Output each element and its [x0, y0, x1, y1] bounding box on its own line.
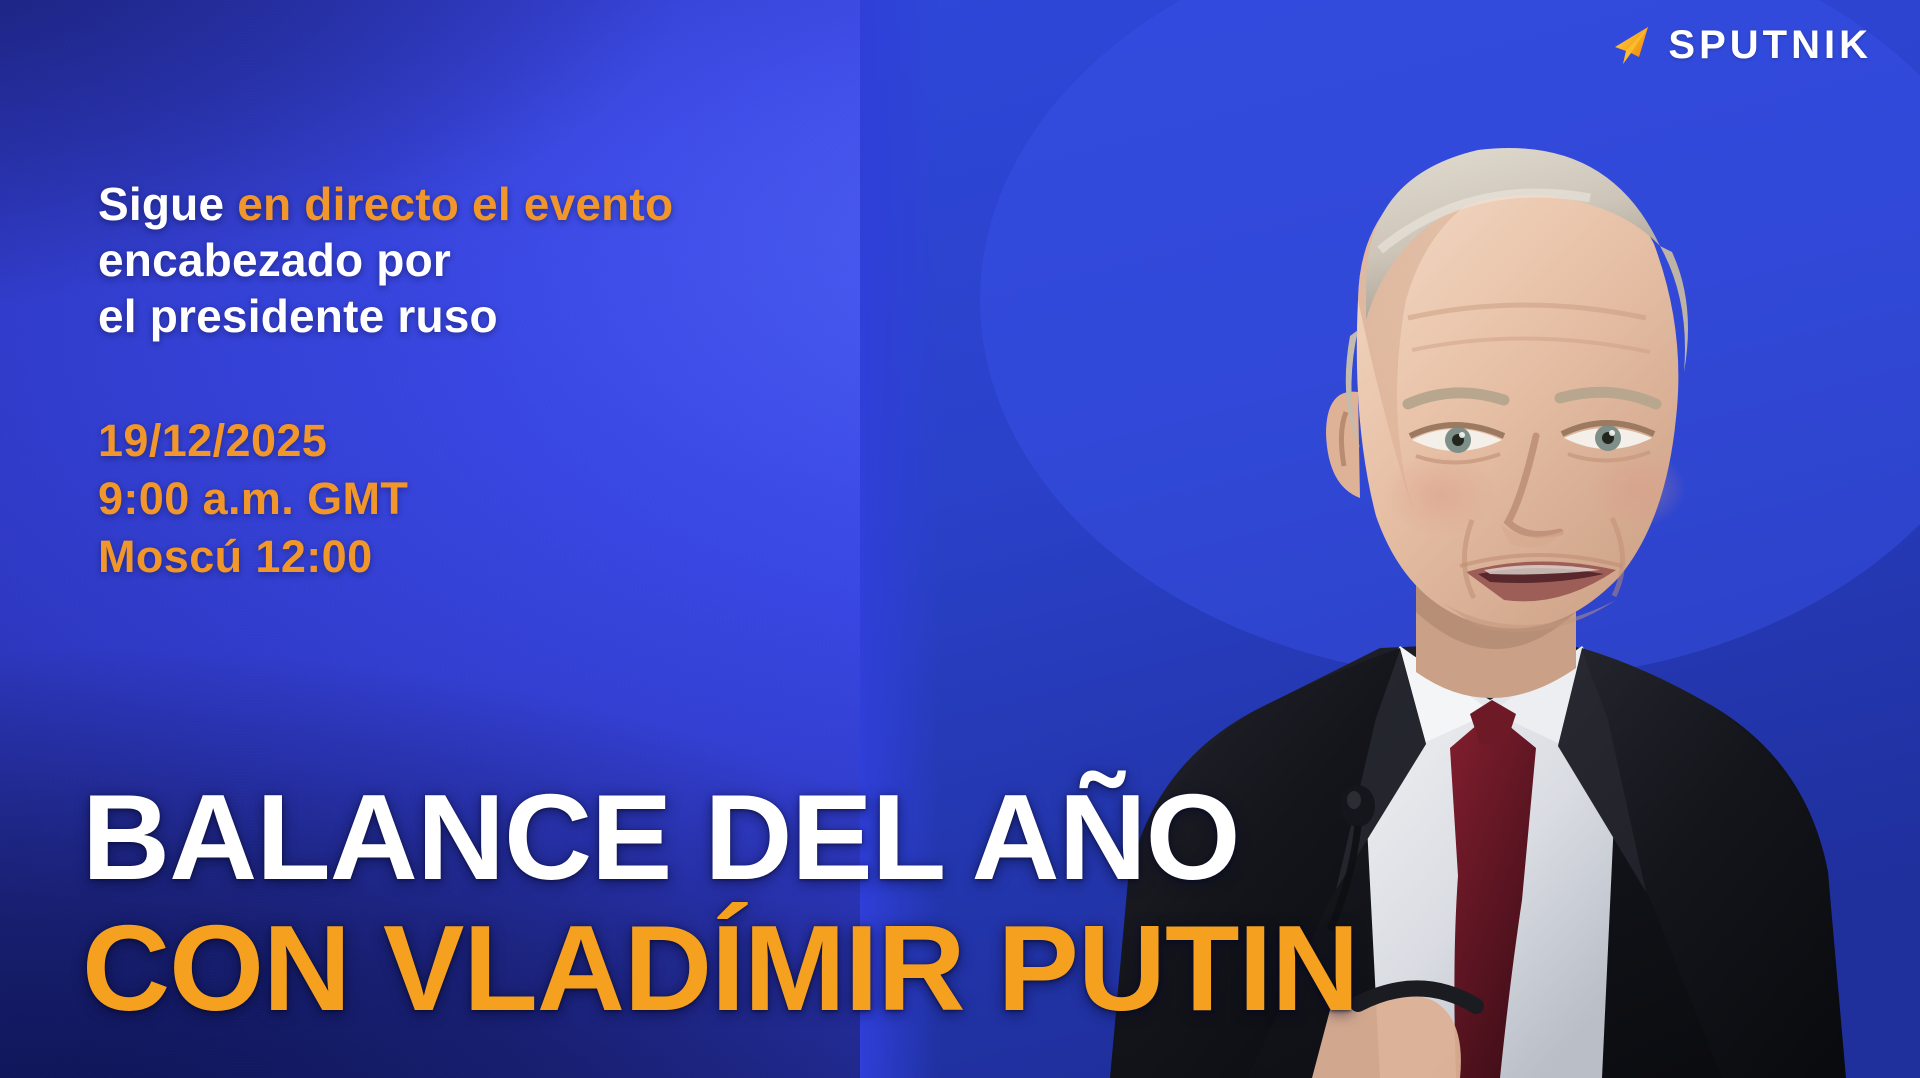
schedule-time-moscow: Moscú 12:00: [98, 528, 998, 586]
sputnik-wordmark: SPUTNIK: [1668, 25, 1872, 65]
promo-poster: SPUTNIK Sigue en directo el evento encab…: [0, 0, 1920, 1078]
lede-text: Sigue en directo el evento encabezado po…: [98, 176, 998, 344]
schedule-block: 19/12/2025 9:00 a.m. GMT Moscú 12:00: [98, 412, 998, 585]
sputnik-logo[interactable]: SPUTNIK: [1608, 22, 1872, 68]
title-line-1: BALANCE DEL AÑO: [82, 775, 1872, 899]
sputnik-arrow-icon: [1608, 22, 1654, 68]
lede-line1-highlight: en directo el evento: [237, 178, 673, 230]
schedule-time-gmt: 9:00 a.m. GMT: [98, 470, 998, 528]
lede-line3: el presidente ruso: [98, 290, 498, 342]
schedule-date: 19/12/2025: [98, 412, 998, 470]
lede-line2: encabezado por: [98, 234, 451, 286]
copy-block: Sigue en directo el evento encabezado po…: [98, 176, 998, 585]
main-title: BALANCE DEL AÑO CON VLADÍMIR PUTIN: [82, 775, 1872, 1030]
title-line-2: CON VLADÍMIR PUTIN: [82, 906, 1872, 1030]
lede-line1-plain: Sigue: [98, 178, 237, 230]
